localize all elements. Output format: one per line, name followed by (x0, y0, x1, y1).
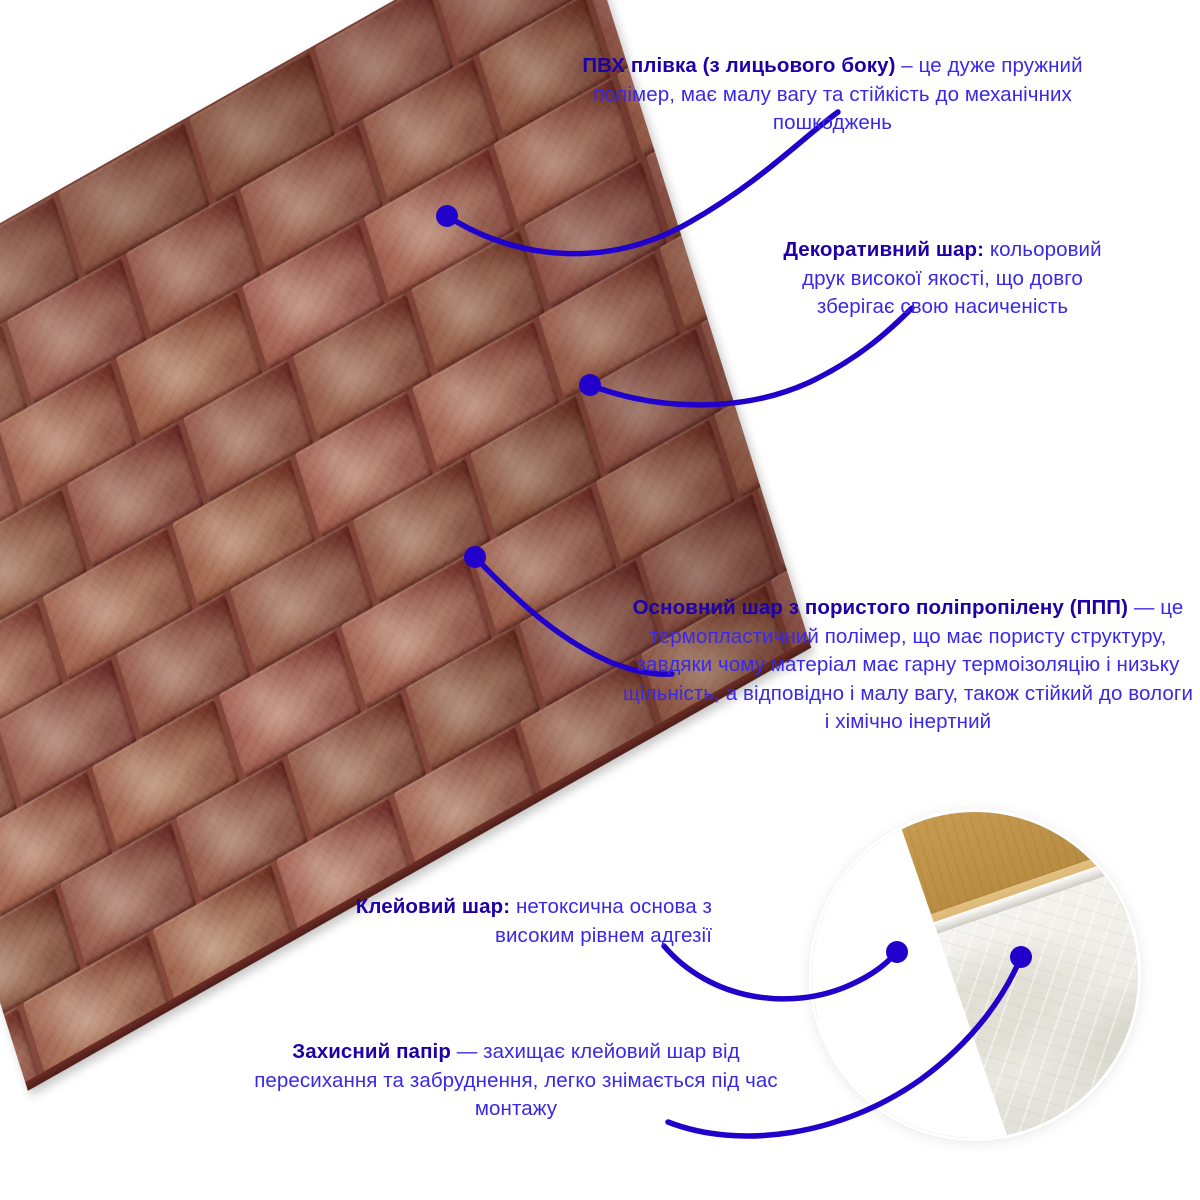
pvc-film-heading: ПВХ плівка (з лицьового боку) (582, 54, 895, 77)
decorative-layer-heading: Декоративний шар: (783, 238, 984, 261)
pvc-film-callout: ПВХ плівка (з лицьового боку) – це дуже … (560, 52, 1105, 138)
infographic-canvas: ПВХ плівка (з лицьового боку) – це дуже … (0, 0, 1200, 1200)
brick-tile (697, 750, 808, 903)
brick-tile (714, 345, 809, 498)
ppp-core-layer-heading: Основний шар з пористого поліпропілену (… (633, 596, 1128, 619)
adhesive-layer-body: нетоксична основа з високим рівнем адгез… (495, 895, 712, 947)
layer-detail-inset (812, 812, 1138, 1138)
inset-photo (812, 812, 1138, 1138)
ppp-core-layer-callout: Основний шар з пористого поліпропілену (… (622, 594, 1194, 737)
decorative-layer-callout: Декоративний шар: кольоровий друк високо… (765, 236, 1120, 322)
protective-paper-heading: Захисний папір (292, 1040, 451, 1063)
adhesive-layer-heading: Клейовий шар: (356, 895, 510, 918)
protective-paper-callout: Захисний папір — захищає клейовий шар ві… (250, 1038, 782, 1124)
adhesive-layer-callout: Клейовий шар: нетоксична основа з високи… (300, 893, 712, 950)
